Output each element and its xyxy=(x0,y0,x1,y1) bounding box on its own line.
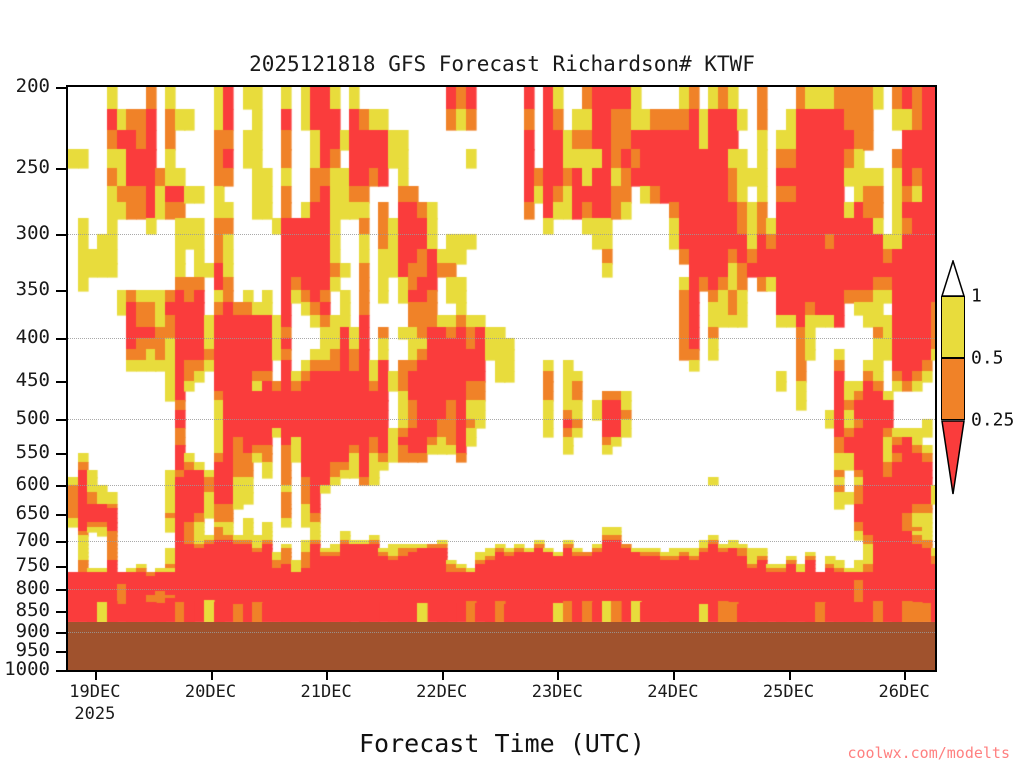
pressure-tick-label: 700 xyxy=(16,529,50,551)
pressure-tick-label: 550 xyxy=(16,441,50,463)
pressure-tick-label: 850 xyxy=(16,599,50,621)
pressure-tick-mark xyxy=(56,651,66,653)
richardson-heatmap-field xyxy=(68,87,935,670)
colorbar-tick-label: 1 xyxy=(971,286,982,307)
terrain-mask xyxy=(68,622,935,670)
time-tick-mark xyxy=(95,672,97,680)
pressure-tick-mark xyxy=(56,290,66,292)
pressure-tick-mark xyxy=(56,566,66,568)
time-tick-mark xyxy=(326,672,328,680)
pressure-gridline xyxy=(68,485,935,487)
pressure-tick-mark xyxy=(56,632,66,634)
pressure-tick-mark xyxy=(56,453,66,455)
time-tick-mark xyxy=(673,672,675,680)
time-tick-label: 21DEC xyxy=(301,682,352,702)
pressure-tick-mark xyxy=(56,87,66,89)
colorbar-segment-0.25-0.5 xyxy=(941,358,965,420)
pressure-tick-label: 1000 xyxy=(4,658,50,680)
colorbar-tick-label: 0.5 xyxy=(971,348,1004,369)
pressure-tick-label: 650 xyxy=(16,502,50,524)
pressure-tick-label: 300 xyxy=(16,222,50,244)
colorbar-segment-0.5-1 xyxy=(941,296,965,358)
pressure-tick-mark xyxy=(56,338,66,340)
colorbar-segment-above-1 xyxy=(941,260,965,296)
pressure-tick-mark xyxy=(56,234,66,236)
time-tick-label: 19DEC xyxy=(69,682,120,702)
time-tick-label: 25DEC xyxy=(763,682,814,702)
page-title: 2025121818 GFS Forecast Richardson# KTWF xyxy=(0,52,1004,76)
pressure-tick-label: 800 xyxy=(16,577,50,599)
pressure-gridline xyxy=(68,338,935,340)
pressure-gridline xyxy=(68,234,935,236)
pressure-tick-mark xyxy=(56,419,66,421)
plot-area xyxy=(66,85,937,672)
pressure-gridline xyxy=(68,589,935,591)
pressure-tick-mark xyxy=(56,168,66,170)
time-tick-mark xyxy=(557,672,559,680)
pressure-tick-mark xyxy=(56,611,66,613)
pressure-gridline xyxy=(68,419,935,421)
time-tick-label: 20DEC xyxy=(185,682,236,702)
pressure-tick-label: 400 xyxy=(16,326,50,348)
pressure-tick-label: 750 xyxy=(16,554,50,576)
time-tick-mark xyxy=(211,672,213,680)
colorbar-tick-label: 0.25 xyxy=(971,410,1014,431)
pressure-tick-mark xyxy=(56,485,66,487)
pressure-tick-label: 450 xyxy=(16,369,50,391)
pressure-tick-label: 500 xyxy=(16,407,50,429)
year-label: 2025 xyxy=(74,704,115,724)
pressure-gridline xyxy=(68,632,935,634)
pressure-tick-mark xyxy=(56,670,66,672)
credit-link[interactable]: coolwx.com/modelts xyxy=(847,744,1010,762)
time-tick-label: 26DEC xyxy=(879,682,930,702)
pressure-tick-label: 250 xyxy=(16,156,50,178)
time-tick-label: 23DEC xyxy=(532,682,583,702)
time-tick-label: 24DEC xyxy=(647,682,698,702)
time-tick-mark xyxy=(442,672,444,680)
time-tick-label: 22DEC xyxy=(416,682,467,702)
pressure-axis: 2002503003504004505005506006507007508008… xyxy=(0,85,62,672)
richardson-timeseries-chart: 2025121818 GFS Forecast Richardson# KTWF… xyxy=(0,0,1024,768)
pressure-tick-label: 200 xyxy=(16,75,50,97)
pressure-tick-mark xyxy=(56,514,66,516)
pressure-tick-mark xyxy=(56,381,66,383)
pressure-tick-label: 600 xyxy=(16,473,50,495)
pressure-tick-mark xyxy=(56,589,66,591)
time-tick-mark xyxy=(789,672,791,680)
colorbar-segment-below-0.25 xyxy=(941,420,965,495)
pressure-gridline xyxy=(68,541,935,543)
pressure-tick-mark xyxy=(56,541,66,543)
time-tick-mark xyxy=(904,672,906,680)
pressure-tick-label: 350 xyxy=(16,278,50,300)
colorbar: 10.50.25 xyxy=(941,296,965,481)
